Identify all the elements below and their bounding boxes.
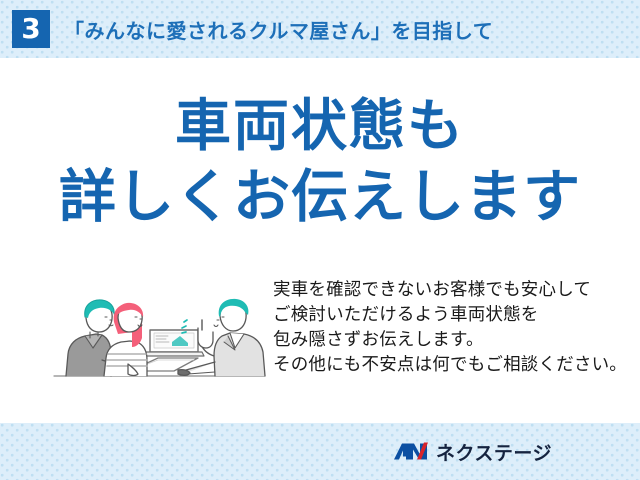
body-copy-line-3: 包み隠さずお伝えします。 (273, 328, 640, 353)
step-number-badge: 3 (12, 10, 50, 48)
brand-logo-text: ネクステージ (436, 438, 552, 465)
headline-line-1: 車両状態も (0, 92, 640, 162)
consultation-illustration (52, 272, 267, 397)
body-copy-line-1: 実車を確認できないお客様でも安心して (273, 278, 640, 303)
headline: 車両状態も 詳しくお伝えします (0, 92, 640, 232)
promo-banner: 3 「みんなに愛されるクルマ屋さん」を目指して 車両状態も 詳しくお伝えします (0, 0, 640, 480)
body-copy-line-2: ご検討いただけるよう車両状態を (273, 303, 640, 328)
nextage-n-logo-icon (393, 440, 429, 464)
header-band: 3 「みんなに愛されるクルマ屋さん」を目指して (0, 0, 640, 58)
body-copy: 実車を確認できないお客様でも安心して ご検討いただけるよう車両状態を 包み隠さず… (273, 278, 640, 378)
brand-logo: ネクステージ (393, 438, 552, 465)
headline-line-2: 詳しくお伝えします (0, 162, 640, 232)
content-row: 実車を確認できないお客様でも安心して ご検討いただけるよう車両状態を 包み隠さず… (0, 272, 640, 402)
footer-band: ネクステージ (0, 423, 640, 480)
body-copy-line-4: その他にも不安点は何でもご相談ください。 (273, 353, 640, 378)
header-title: 「みんなに愛されるクルマ屋さん」を目指して (64, 15, 493, 44)
